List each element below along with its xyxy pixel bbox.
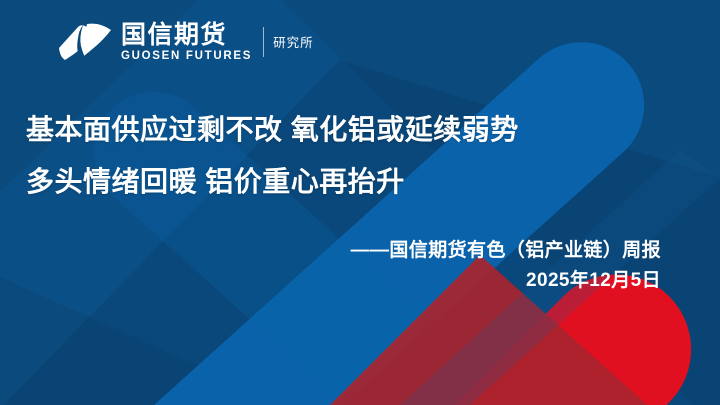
logo-divider [263, 27, 264, 57]
headline-line-2: 多头情绪回暖 铝价重心再抬升 [26, 156, 519, 208]
logo-wordmark: 国信期货 GUOSEN FUTURES [121, 19, 252, 65]
headline: 基本面供应过剩不改 氧化铝或延续弱势 多头情绪回暖 铝价重心再抬升 [26, 104, 519, 208]
logo-company-name-en: GUOSEN FUTURES [121, 49, 252, 63]
guosen-wave-mark-icon [56, 19, 114, 65]
logo-company-name-cn: 国信期货 [121, 21, 252, 49]
report-cover-slide: 国信期货 GUOSEN FUTURES 研究所 基本面供应过剩不改 氧化铝或延续… [0, 0, 720, 405]
report-source-line: ——国信期货有色（铝产业链）周报 [351, 236, 661, 266]
brand-logo: 国信期货 GUOSEN FUTURES 研究所 [56, 14, 314, 70]
headline-line-1: 基本面供应过剩不改 氧化铝或延续弱势 [26, 104, 519, 156]
report-date: 2025年12月5日 [351, 266, 661, 296]
subtitle-block: ——国信期货有色（铝产业链）周报 2025年12月5日 [351, 236, 661, 296]
logo-department-label: 研究所 [273, 34, 314, 51]
